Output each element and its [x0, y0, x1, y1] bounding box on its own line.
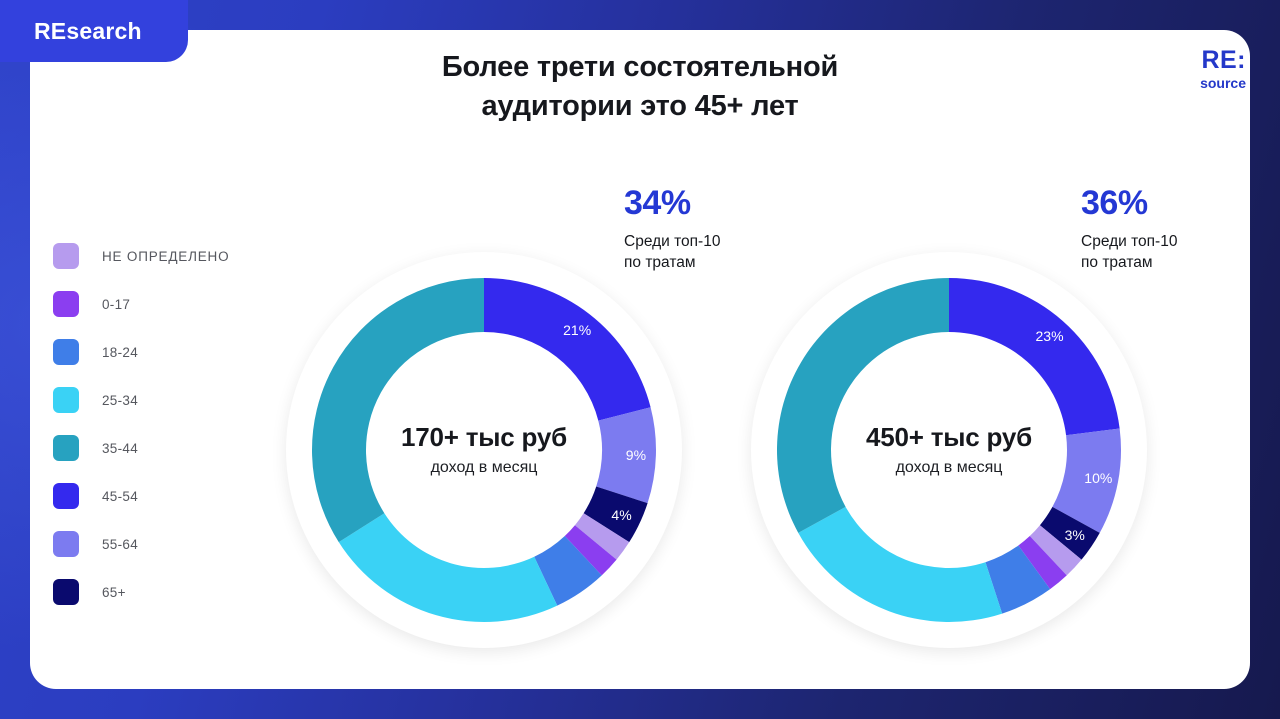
legend-swatch	[53, 387, 79, 413]
brand-tab-label: REsearch	[34, 18, 142, 45]
callout-percent: 34%	[624, 186, 720, 220]
callout-description: Среди топ-10 по тратам	[1081, 232, 1177, 274]
legend-swatch	[53, 435, 79, 461]
donut-slice[interactable]	[949, 278, 1120, 435]
callout-top10-450k: 36% Среди топ-10 по тратам	[1081, 186, 1177, 274]
page-title-line-2: аудитории это 45+ лет	[0, 87, 1280, 126]
page-title-line-1: Более трети состоятельной	[0, 48, 1280, 87]
callout-percent: 36%	[1081, 186, 1177, 220]
callout-line-1: Среди топ-10	[624, 232, 720, 253]
donut-slice[interactable]	[777, 278, 949, 533]
legend-label: 0-17	[102, 297, 130, 312]
legend-item[interactable]: 55-64	[53, 520, 283, 568]
callout-line-2: по тратам	[624, 253, 720, 274]
legend-label: 25-34	[102, 393, 138, 408]
brand-tab[interactable]: REsearch	[0, 0, 188, 62]
callout-top10-170k: 34% Среди топ-10 по тратам	[624, 186, 720, 274]
donut-slice[interactable]	[312, 278, 484, 542]
donut-slice[interactable]	[484, 278, 651, 421]
donut-slice[interactable]	[596, 407, 656, 503]
chart-legend: НЕ ОПРЕДЕЛЕНО0-1718-2425-3435-4445-5455-…	[53, 232, 283, 616]
legend-label: 18-24	[102, 345, 138, 360]
legend-label: 45-54	[102, 489, 138, 504]
legend-swatch	[53, 531, 79, 557]
legend-label: 35-44	[102, 441, 138, 456]
callout-line-1: Среди топ-10	[1081, 232, 1177, 253]
legend-item[interactable]: НЕ ОПРЕДЕЛЕНО	[53, 232, 283, 280]
legend-label: 65+	[102, 585, 126, 600]
legend-swatch	[53, 483, 79, 509]
legend-swatch	[53, 579, 79, 605]
legend-swatch	[53, 291, 79, 317]
legend-item[interactable]: 0-17	[53, 280, 283, 328]
legend-item[interactable]: 18-24	[53, 328, 283, 376]
legend-swatch	[53, 243, 79, 269]
donut-slice[interactable]	[339, 513, 557, 622]
callout-description: Среди топ-10 по тратам	[624, 232, 720, 274]
donut-svg	[286, 252, 682, 648]
legend-item[interactable]: 45-54	[53, 472, 283, 520]
legend-item[interactable]: 65+	[53, 568, 283, 616]
legend-label: НЕ ОПРЕДЕЛЕНО	[102, 249, 229, 264]
legend-item[interactable]: 25-34	[53, 376, 283, 424]
donut-svg	[751, 252, 1147, 648]
donut-slice[interactable]	[798, 507, 1002, 622]
legend-item[interactable]: 35-44	[53, 424, 283, 472]
legend-swatch	[53, 339, 79, 365]
legend-label: 55-64	[102, 537, 138, 552]
page-title: Более трети состоятельной аудитории это …	[0, 48, 1280, 126]
callout-line-2: по тратам	[1081, 253, 1177, 274]
